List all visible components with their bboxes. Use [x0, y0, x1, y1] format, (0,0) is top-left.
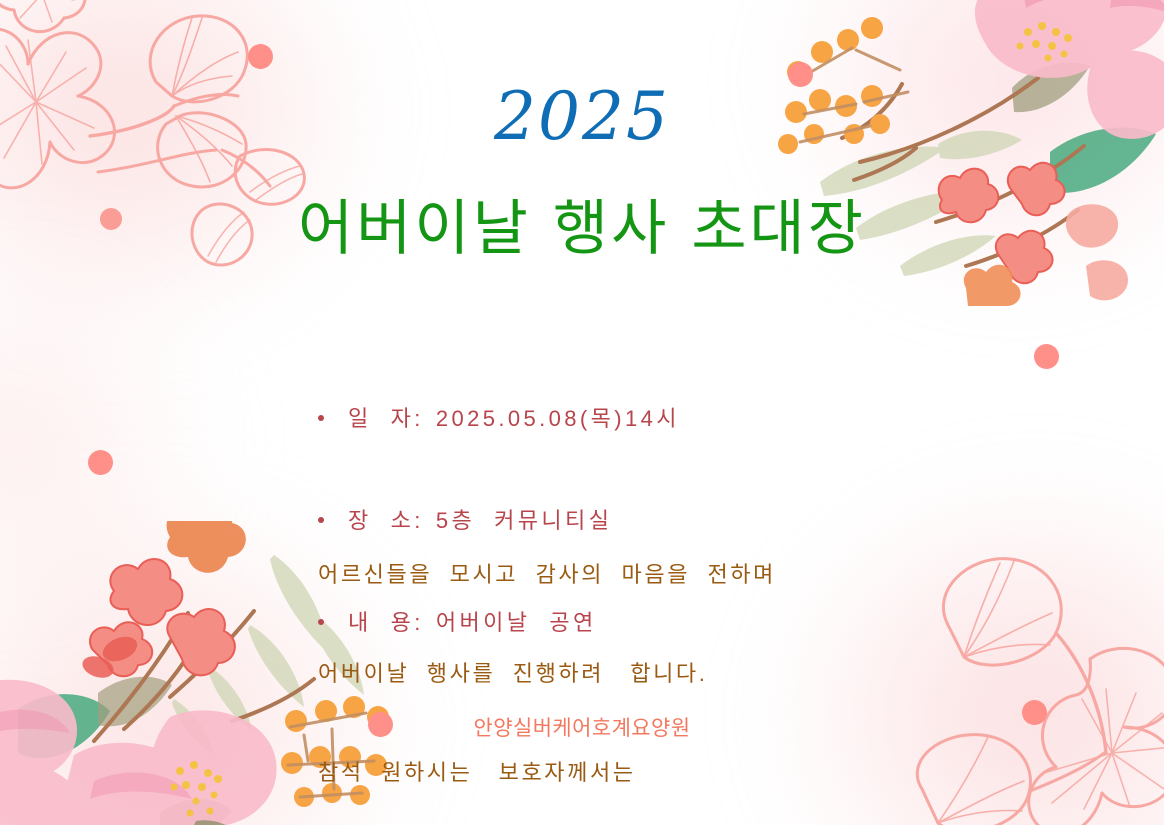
invitation-card: 2025 어버이날 행사 초대장 일 자: 2025.05.08(목)14시 장…: [0, 0, 1164, 825]
invitation-body: 어르신들을 모시고 감사의 마음을 전하며 어버이날 행사를 진행하려 합니다.…: [318, 492, 776, 825]
list-item: 일 자: 2025.05.08(목)14시: [318, 402, 680, 436]
bullet-icon: [318, 415, 324, 421]
body-line: 참석 원하시는 보호자께서는: [318, 756, 776, 789]
page-title: 어버이날 행사 초대장: [0, 196, 1164, 263]
card-content: 2025 어버이날 행사 초대장 일 자: 2025.05.08(목)14시 장…: [0, 0, 1164, 825]
body-line: 어버이날 행사를 진행하려 합니다.: [318, 657, 776, 690]
detail-label: 일 자:: [348, 402, 424, 436]
detail-value: 2025.05.08(목)14시: [436, 402, 680, 436]
year-heading: 2025: [0, 84, 1164, 150]
organization-signature: 안양실버케어호계요양원: [0, 712, 1164, 742]
body-line: 어르신들을 모시고 감사의 마음을 전하며: [318, 558, 776, 591]
